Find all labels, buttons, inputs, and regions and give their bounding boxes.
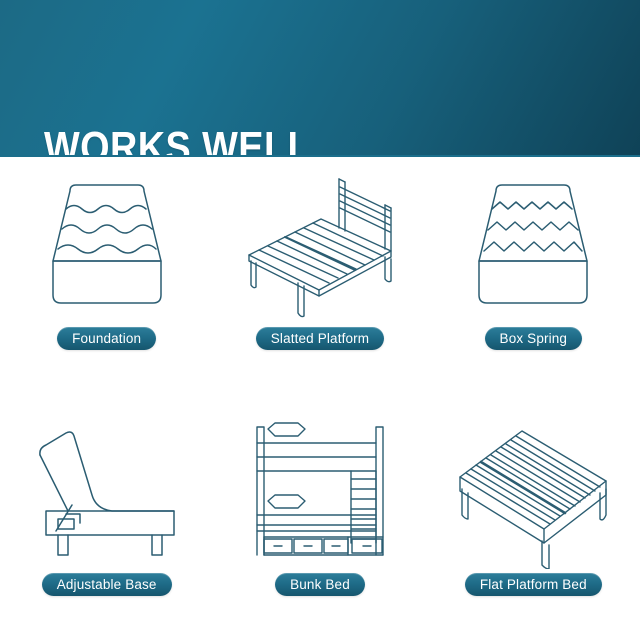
- base-card-adjustable-base[interactable]: Adjustable Base: [0, 399, 213, 640]
- base-card-foundation[interactable]: Foundation: [0, 157, 213, 399]
- base-card-bunk-bed[interactable]: Bunk Bed: [213, 399, 426, 640]
- slatted-platform-bed-frame-icon: [235, 173, 405, 323]
- base-card-box-spring[interactable]: Box Spring: [427, 157, 640, 399]
- base-label-slatted-platform: Slatted Platform: [256, 327, 384, 350]
- base-label-box-spring: Box Spring: [485, 327, 583, 350]
- foundation-mattress-icon: [22, 173, 192, 323]
- base-label-bunk-bed: Bunk Bed: [275, 573, 365, 596]
- base-label-foundation: Foundation: [57, 327, 156, 350]
- adjustable-base-icon: [22, 419, 192, 569]
- page-title-line-1: WORKS WELL: [44, 124, 425, 157]
- base-label-adjustable-base: Adjustable Base: [42, 573, 172, 596]
- base-card-flat-platform-bed[interactable]: Flat Platform Bed: [427, 399, 640, 640]
- infographic-root: WORKS WELL WITH THESE BASES Foundation: [0, 0, 640, 640]
- page-title: WORKS WELL WITH THESE BASES: [44, 30, 425, 157]
- base-card-slatted-platform[interactable]: Slatted Platform: [213, 157, 426, 399]
- bunk-bed-icon: [235, 419, 405, 569]
- bases-grid: Foundation: [0, 157, 640, 640]
- flat-platform-bed-icon: [448, 419, 618, 569]
- base-label-flat-platform-bed: Flat Platform Bed: [465, 573, 602, 596]
- box-spring-icon: [448, 173, 618, 323]
- header-banner: WORKS WELL WITH THESE BASES: [0, 0, 640, 157]
